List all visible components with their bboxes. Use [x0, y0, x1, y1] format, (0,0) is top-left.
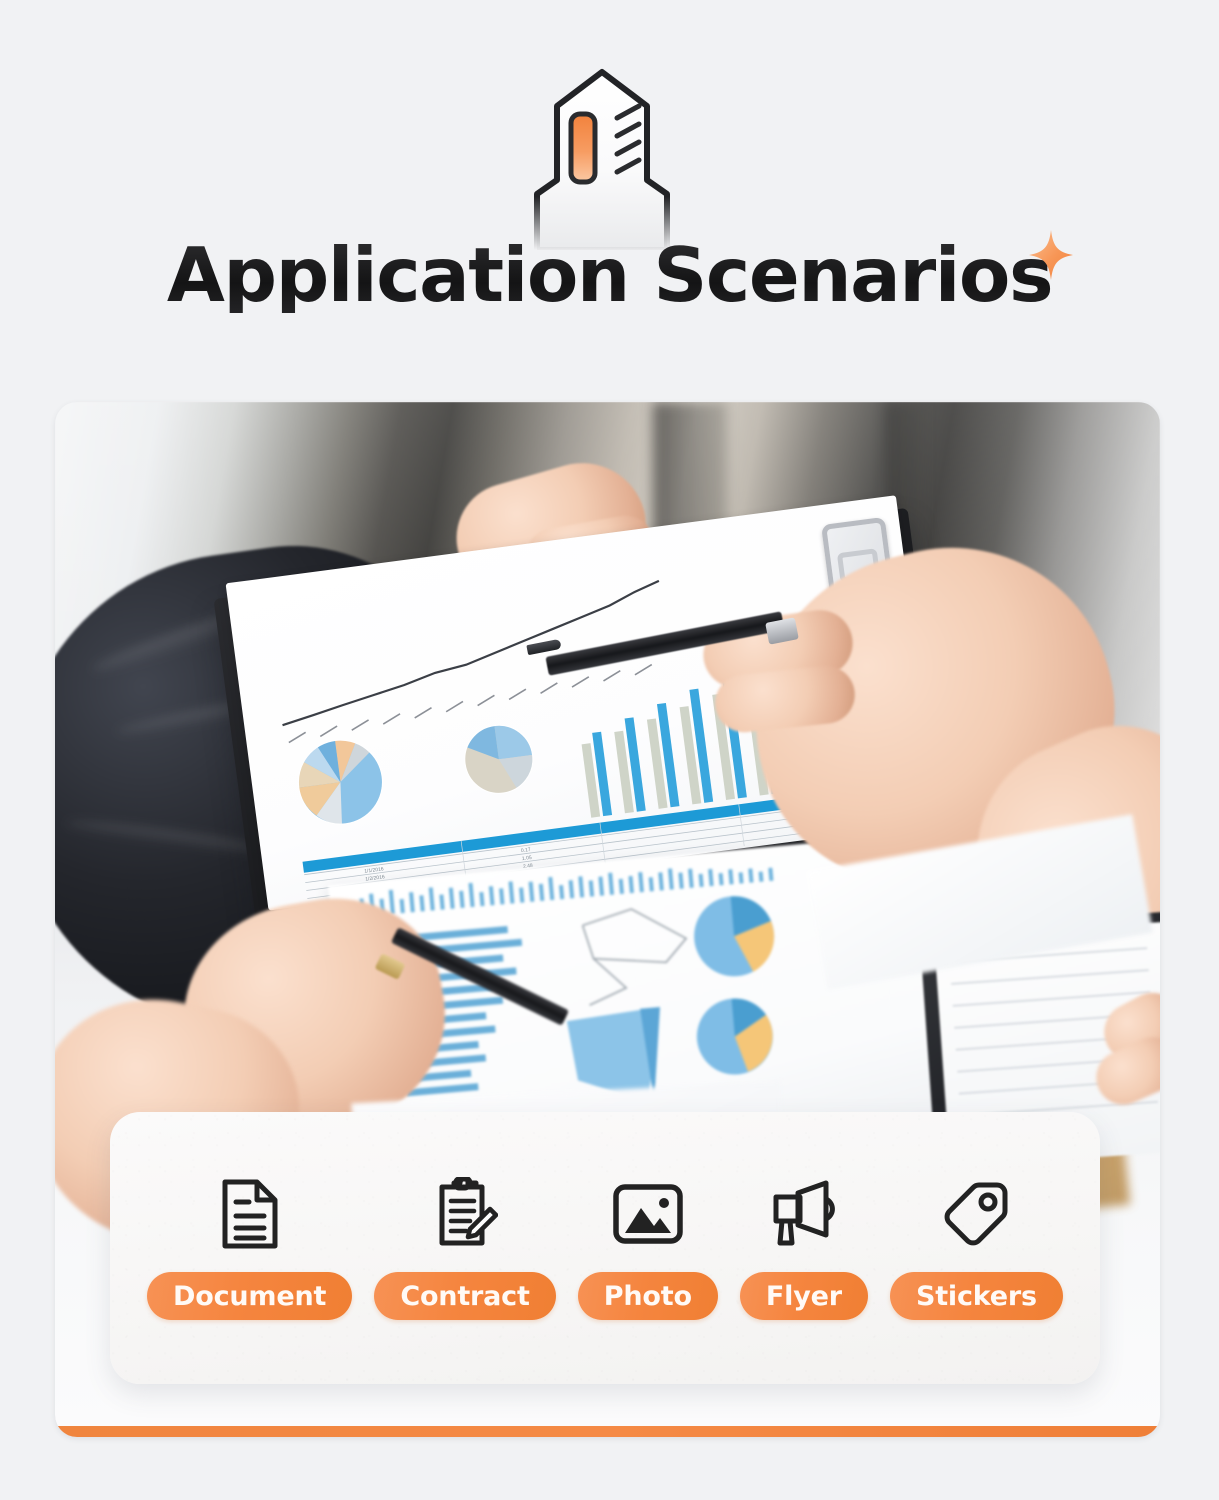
price-tag-icon [938, 1176, 1014, 1252]
page-header: Application Scenarios [0, 0, 1219, 400]
category-item-stickers[interactable]: Stickers [890, 1176, 1063, 1320]
category-label-document[interactable]: Document [147, 1272, 352, 1320]
category-item-contract[interactable]: Contract [374, 1176, 555, 1320]
office-building-icon [497, 62, 707, 252]
document-icon [212, 1176, 288, 1252]
category-item-document[interactable]: Document [147, 1176, 352, 1320]
image-icon [610, 1176, 686, 1252]
megaphone-icon [766, 1176, 842, 1252]
category-label-stickers[interactable]: Stickers [890, 1272, 1063, 1320]
category-label-photo[interactable]: Photo [578, 1272, 718, 1320]
clipboard-pen-icon [427, 1176, 503, 1252]
category-item-flyer[interactable]: Flyer [740, 1176, 868, 1320]
svg-text:1/1/2016: 1/1/2016 [364, 866, 384, 875]
category-label-flyer[interactable]: Flyer [740, 1272, 868, 1320]
sparkle-icon [1027, 228, 1075, 282]
category-card: Document Contract [110, 1112, 1100, 1384]
category-item-photo[interactable]: Photo [578, 1176, 718, 1320]
category-label-contract[interactable]: Contract [374, 1272, 555, 1320]
